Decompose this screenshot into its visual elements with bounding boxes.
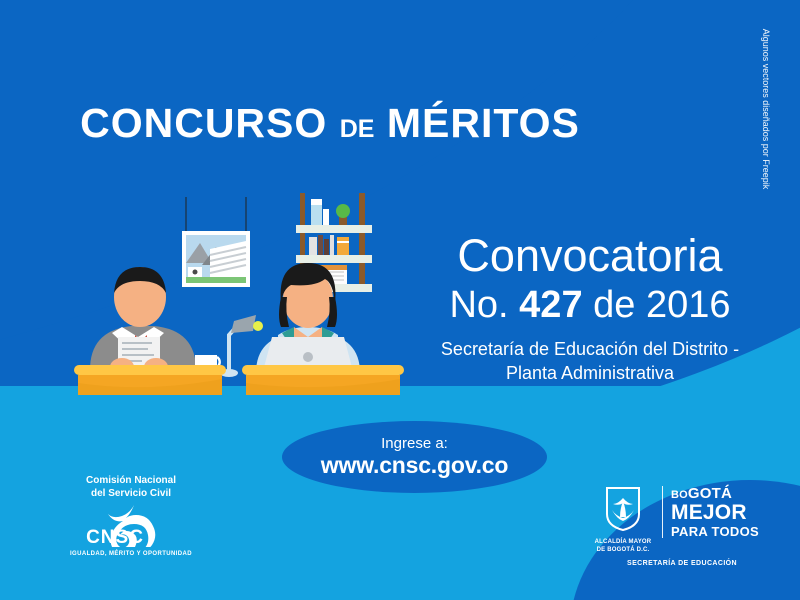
convocatoria-no-prefix: No. bbox=[449, 284, 508, 326]
website-cta-button[interactable]: Ingrese a: www.cnsc.gov.co bbox=[282, 421, 547, 493]
bogota-logo: ALCALDÍA MAYOR DE BOGOTÁ D.C. BOGOTÁ MEJ… bbox=[592, 486, 772, 567]
cnsc-title-line-2: del Servicio Civil bbox=[91, 488, 171, 499]
entity-line-2: Planta Administrativa bbox=[506, 363, 674, 383]
entity-line-1: Secretaría de Educación del Distrito - bbox=[441, 339, 739, 359]
cnsc-logo-title: Comisión Nacional del Servicio Civil bbox=[56, 475, 206, 500]
convocatoria-title: Convocatoria bbox=[396, 233, 784, 278]
bogota-slogan-line-1: BOGOTÁ bbox=[671, 486, 759, 501]
entity-name: Secretaría de Educación del Distrito - P… bbox=[396, 337, 784, 385]
bogota-slogan-mejor: MEJOR bbox=[671, 502, 759, 523]
bogota-logo-footer: SECRETARÍA DE EDUCACIÓN bbox=[592, 560, 772, 567]
desk-right bbox=[242, 365, 404, 395]
cnsc-acronym: CNSC bbox=[40, 527, 190, 549]
convocatoria-number: 427 bbox=[519, 284, 582, 326]
cnsc-logo: Comisión Nacional del Servicio Civil CNS… bbox=[56, 475, 206, 575]
desk-left bbox=[74, 365, 226, 395]
slogan-bo: BO bbox=[671, 489, 688, 501]
shield-line-1: ALCALDÍA MAYOR bbox=[595, 539, 652, 545]
bogota-shield-caption: ALCALDÍA MAYOR DE BOGOTÁ D.C. bbox=[592, 539, 654, 555]
shield-line-2: DE BOGOTÁ D.C. bbox=[597, 547, 650, 553]
convocatoria-no-suffix: de 2016 bbox=[593, 284, 730, 326]
convocatoria-number-line: No. 427 de 2016 bbox=[396, 280, 784, 331]
headline-meritos: MÉRITOS bbox=[387, 100, 580, 146]
male-officer-figure bbox=[90, 267, 196, 376]
poster-headline: CONCURSO DE MÉRITOS bbox=[0, 100, 660, 147]
cta-url[interactable]: www.cnsc.gov.co bbox=[321, 452, 508, 478]
slogan-gota: GOTÁ bbox=[688, 485, 732, 502]
headline-concurso: CONCURSO bbox=[80, 100, 327, 146]
office-illustration bbox=[60, 185, 420, 395]
convocatoria-block: Convocatoria No. 427 de 2016 Secretaría … bbox=[396, 233, 784, 386]
logo-divider bbox=[662, 486, 663, 538]
bogota-shield-icon bbox=[603, 486, 643, 532]
framed-picture-icon bbox=[182, 197, 250, 287]
poster-canvas: CONCURSO DE MÉRITOS Convocatoria No. 427… bbox=[0, 0, 800, 600]
cnsc-title-line-1: Comisión Nacional bbox=[86, 475, 176, 486]
headline-de: DE bbox=[340, 115, 375, 143]
cnsc-tagline: IGUALDAD, MÉRITO Y OPORTUNIDAD bbox=[56, 551, 206, 557]
freepik-credit: Algunos vectores diseñados por Freepik bbox=[761, 19, 771, 199]
cta-prompt: Ingrese a: bbox=[381, 436, 448, 453]
bogota-slogan-para-todos: PARA TODOS bbox=[671, 525, 759, 538]
